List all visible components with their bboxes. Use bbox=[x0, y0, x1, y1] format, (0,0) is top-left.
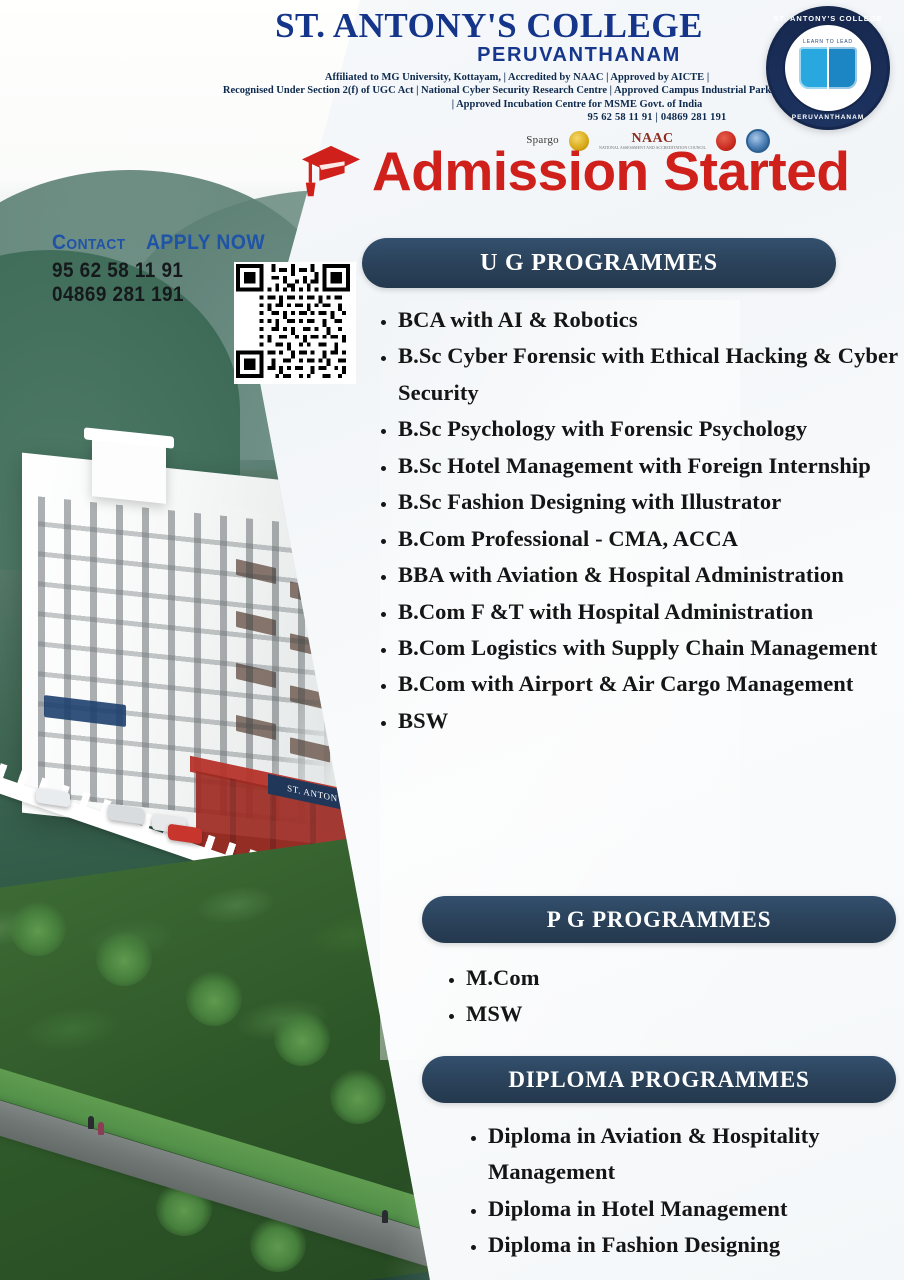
banner-diploma-programmes: DIPLOMA PROGRAMMES bbox=[422, 1056, 896, 1103]
pedestrian bbox=[88, 1116, 94, 1129]
contact-headings: Contact APPLY NOW bbox=[52, 232, 322, 253]
apply-now-label: APPLY NOW bbox=[146, 232, 265, 253]
list-item: B.Com with Airport & Air Cargo Managemen… bbox=[398, 666, 904, 702]
list-item: Diploma in Fashion Designing bbox=[488, 1227, 904, 1263]
seal-motto: LEARN TO LEAD bbox=[785, 39, 871, 45]
list-item: B.Sc Cyber Forensic with Ethical Hacking… bbox=[398, 338, 904, 411]
admission-title-row: Admission Started bbox=[300, 140, 849, 202]
contact-label: Contact bbox=[52, 232, 126, 253]
list-item: B.Com Logistics with Supply Chain Manage… bbox=[398, 630, 904, 666]
palm-tree bbox=[186, 970, 242, 1026]
palm-tree bbox=[10, 900, 66, 956]
building-tower bbox=[92, 438, 166, 504]
list-diploma-programmes: Diploma in Aviation & Hospitality Manage… bbox=[462, 1118, 904, 1264]
palm-tree bbox=[274, 1010, 330, 1066]
accreditation-line-3: | Approved Incubation Centre for MSME Go… bbox=[200, 98, 794, 111]
college-seal: ST. ANTONY'S COLLEGE LEARN TO LEAD PERUV… bbox=[766, 6, 890, 130]
pedestrian bbox=[98, 1122, 104, 1135]
list-item: M.Com bbox=[466, 960, 896, 996]
graduation-cap-icon bbox=[300, 140, 362, 202]
pedestrian bbox=[382, 1210, 388, 1223]
seal-inner: LEARN TO LEAD bbox=[783, 23, 873, 113]
page-title: Admission Started bbox=[372, 144, 849, 199]
seal-bottom-text: PERUVANTHANAM bbox=[769, 114, 887, 121]
palm-tree bbox=[96, 930, 152, 986]
admission-poster: ST. ANTONY ST. ANTONY'S COLLEGE PERUVANT… bbox=[0, 0, 904, 1280]
list-item: B.Sc Psychology with Forensic Psychology bbox=[398, 411, 904, 447]
header-phone-numbers: 95 62 58 11 91 | 04869 281 191 bbox=[200, 111, 794, 124]
accreditation-line-1: Affiliated to MG University, Kottayam, |… bbox=[200, 71, 794, 84]
list-item: B.Com F &T with Hospital Administration bbox=[398, 594, 904, 630]
contact-block: Contact APPLY NOW 95 62 58 11 91 04869 2… bbox=[52, 232, 322, 306]
list-item: BBA with Aviation & Hospital Administrat… bbox=[398, 557, 904, 593]
list-item: B.Sc Hotel Management with Foreign Inter… bbox=[398, 448, 904, 484]
list-item: BCA with AI & Robotics bbox=[398, 302, 904, 338]
list-item: Diploma in Aviation & Hospitality Manage… bbox=[488, 1118, 904, 1191]
list-item: BSW bbox=[398, 703, 904, 739]
apply-now-qr-code[interactable] bbox=[234, 262, 356, 384]
banner-ug-programmes: U G PROGRAMMES bbox=[362, 238, 836, 288]
qr-code-graphic bbox=[236, 264, 350, 378]
list-item: Diploma in Hotel Management bbox=[488, 1191, 904, 1227]
accreditation-line-2: Recognised Under Section 2(f) of UGC Act… bbox=[200, 84, 794, 97]
list-pg-programmes: M.Com MSW bbox=[440, 960, 896, 1033]
seal-top-text: ST. ANTONY'S COLLEGE bbox=[769, 14, 887, 23]
list-item: MSW bbox=[466, 996, 896, 1032]
open-book-seal-icon bbox=[799, 47, 857, 89]
list-ug-programmes: BCA with AI & Robotics B.Sc Cyber Forens… bbox=[372, 302, 904, 739]
list-item: B.Sc Fashion Designing with Illustrator bbox=[398, 484, 904, 520]
banner-pg-programmes: P G PROGRAMMES bbox=[422, 896, 896, 943]
list-item: B.Com Professional - CMA, ACCA bbox=[398, 521, 904, 557]
palm-tree bbox=[330, 1068, 386, 1124]
